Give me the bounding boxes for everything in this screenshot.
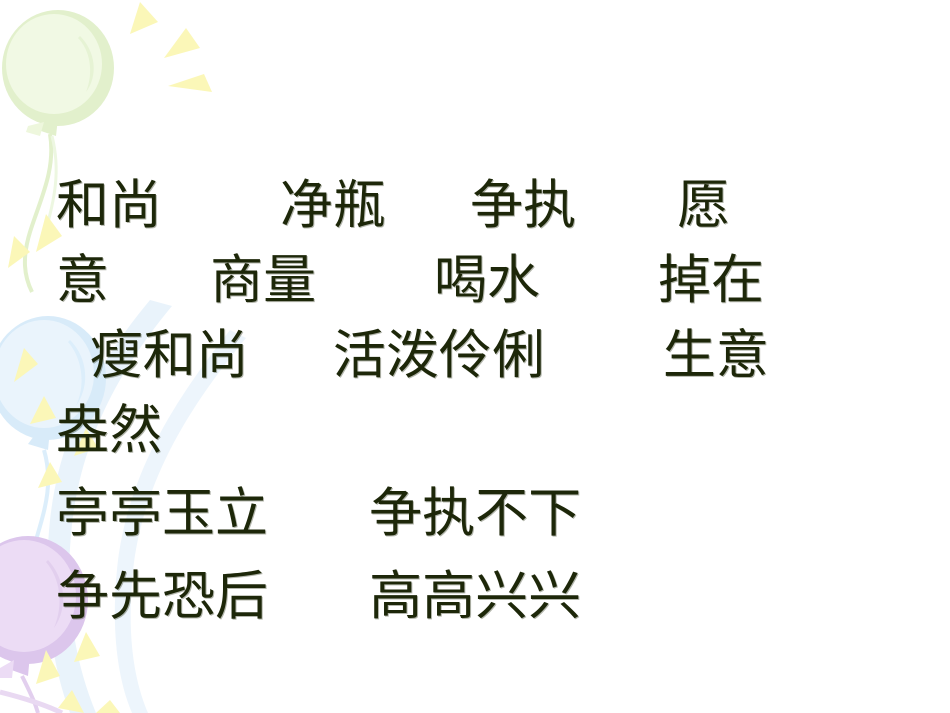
text-line-3: 瘦和尚 活泼伶俐 生意 (56, 318, 936, 393)
slide-canvas: 和尚 净瓶 争执 愿 意 商量 喝水 掉在 瘦和尚 活泼伶俐 生意 盎然 亭亭玉… (0, 0, 950, 713)
yellow-rays-icon (130, 2, 212, 92)
yellow-rays-purple-icon (36, 632, 120, 713)
yellow-rays-lower-icon (8, 214, 62, 268)
text-line-1: 和尚 净瓶 争执 愿 (56, 168, 936, 243)
text-line-5: 亭亭玉立 争执不下 (56, 476, 936, 551)
text-line-2: 意 商量 喝水 掉在 (56, 243, 936, 318)
text-line-4: 盎然 (56, 393, 936, 468)
text-line-6: 争先恐后 高高兴兴 (56, 559, 936, 634)
vocabulary-text-block: 和尚 净瓶 争执 愿 意 商量 喝水 掉在 瘦和尚 活泼伶俐 生意 盎然 亭亭玉… (56, 168, 936, 634)
